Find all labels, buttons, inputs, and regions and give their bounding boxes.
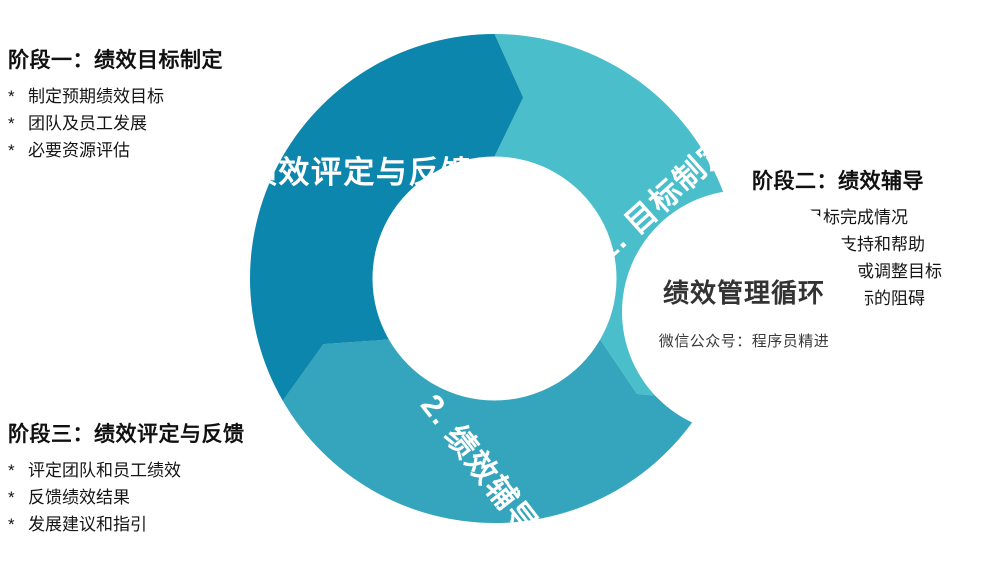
bullet-text: 制定预期绩效目标 (28, 84, 164, 111)
bullet-text: 团队及员工发展 (28, 111, 147, 138)
hub-subtitle: 微信公众号：程序员精进 (659, 330, 830, 351)
stage-one-panel: 阶段一：绩效目标制定 * 制定预期绩效目标 * 团队及员工发展 * 必要资源评估 (8, 44, 223, 165)
stage-three-bullet-list: * 评定团队和员工绩效 * 反馈绩效结果 * 发展建议和指引 (8, 458, 245, 539)
stage-three-title: 阶段三：绩效评定与反馈 (8, 418, 245, 448)
bullet-marker: * (8, 111, 28, 138)
segment-label-review-feedback: 3. 绩效评定与反馈 (207, 155, 473, 190)
bullet-text: 评定团队和员工绩效 (28, 458, 181, 485)
stage-one-bullet-list: * 制定预期绩效目标 * 团队及员工发展 * 必要资源评估 (8, 84, 223, 165)
list-item: * 必要资源评估 (8, 138, 223, 165)
cycle-hub: 绩效管理循环 微信公众号：程序员精进 (622, 190, 866, 434)
stage-three-panel: 阶段三：绩效评定与反馈 * 评定团队和员工绩效 * 反馈绩效结果 * 发展建议和… (8, 418, 245, 539)
list-item: * 团队及员工发展 (8, 111, 223, 138)
list-item: * 反馈绩效结果 (8, 485, 245, 512)
list-item: * 制定预期绩效目标 (8, 84, 223, 111)
bullet-marker: * (8, 458, 28, 485)
bullet-marker: * (8, 84, 28, 111)
bullet-marker: * (8, 138, 28, 165)
bullet-marker: * (8, 485, 28, 512)
stage-one-title: 阶段一：绩效目标制定 (8, 44, 223, 74)
bullet-text: 发展建议和指引 (28, 512, 147, 539)
bullet-marker: * (8, 512, 28, 539)
bullet-text: 必要资源评估 (28, 138, 130, 165)
list-item: * 评定团队和员工绩效 (8, 458, 245, 485)
performance-cycle-wheel: 1. 目标制定2. 绩效辅导3. 绩效评定与反馈 绩效管理循环 微信公众号：程序… (250, 34, 739, 523)
stage-two-title: 阶段二：绩效辅导 (752, 165, 942, 195)
list-item: * 发展建议和指引 (8, 512, 245, 539)
bullet-text: 反馈绩效结果 (28, 485, 130, 512)
page-title: 绩效管理循环 (663, 273, 825, 310)
